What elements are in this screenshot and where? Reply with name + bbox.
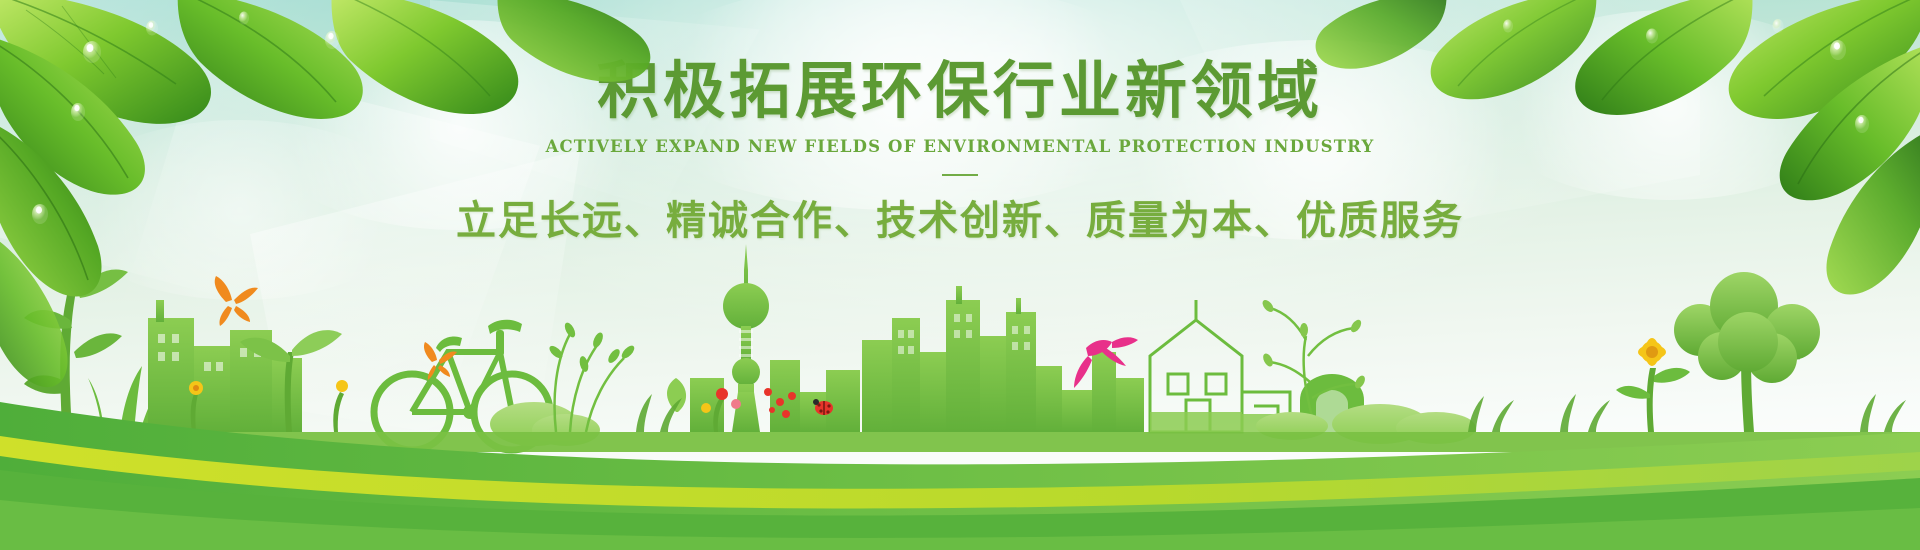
yellow-wave-band [0,436,1920,508]
banner-subtitle-english: ACTIVELY EXPAND NEW FIELDS OF ENVIRONMEN… [0,137,1920,156]
tree-right [1674,272,1820,432]
sapling-left [24,252,128,432]
flowers-center [701,388,741,432]
buildings-center [690,286,1144,432]
butterfly-left [215,276,258,326]
green-wave-band [0,402,1920,550]
shrub-behind-bicycle [490,402,600,446]
bicycle-silhouette [374,352,550,450]
buildings-left [148,300,302,432]
tower-rings [739,330,753,357]
flowers-left [189,380,348,432]
text-divider [942,174,978,176]
berries-tower [764,388,796,418]
building-windows-left [158,334,261,371]
oriental-pearl-tower [723,244,769,432]
branch-spray-right [1270,308,1358,432]
sunflower [1616,336,1690,432]
house-silhouette [1150,300,1290,432]
bicycle-details [436,320,522,419]
building-windows-center [898,314,1030,354]
grass-tufts-left [88,366,170,432]
banner-headline: 积极拓展环保行业新领域 [0,0,1920,123]
sprout-center-left [240,330,342,432]
ground-strip [0,432,1920,452]
green-wave-band-bottom [0,500,1920,550]
leaf-accent-center [667,378,686,412]
branch-buds-right [1260,298,1367,390]
arch-gateway [1300,374,1364,432]
banner-text-block: 积极拓展环保行业新领域 ACTIVELY EXPAND NEW FIELDS O… [0,0,1920,244]
butterfly-center [424,342,457,380]
house-fill [1150,412,1300,432]
grass-tufts-base [636,394,1906,432]
green-wave-band-lower [0,470,1920,550]
bushes-right [1256,404,1476,444]
bamboo-leaves-center [547,321,636,373]
bamboo-stalks-center [555,334,624,432]
banner-tagline: 立足长远、精诚合作、技术创新、质量为本、优质服务 [0,198,1920,244]
ladybug [813,399,833,415]
environmental-banner: 积极拓展环保行业新领域 ACTIVELY EXPAND NEW FIELDS O… [0,0,1920,550]
hummingbird [1074,337,1138,388]
